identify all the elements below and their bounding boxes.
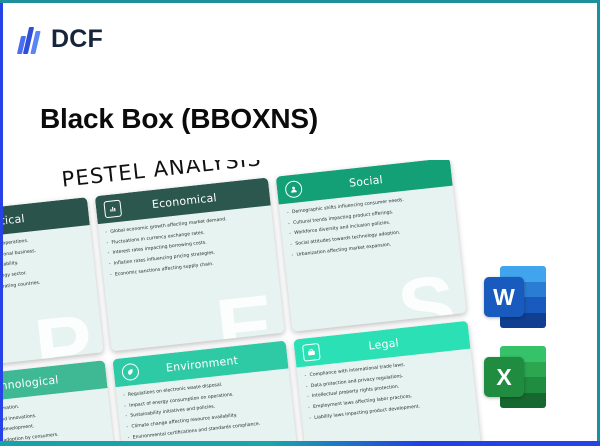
- briefcase-icon: [302, 342, 321, 361]
- bar-chart-icon: [103, 199, 122, 218]
- frame-border-bottom: [0, 441, 600, 446]
- list-item: Political relationships with operating c…: [0, 275, 89, 298]
- excel-letter: X: [484, 357, 524, 397]
- leaf-icon: [121, 362, 140, 381]
- page-title: Black Box (BBOXNS): [40, 103, 318, 135]
- pestel-card-environment[interactable]: Environment E Regulations on electronic …: [112, 341, 302, 446]
- page-header: DCF Black Box (BBOXNS): [0, 0, 600, 160]
- frame-border-left: [0, 0, 3, 446]
- frame-border-top: [0, 0, 600, 3]
- pestel-card-political[interactable]: Political P Government stability impacti…: [0, 197, 103, 371]
- card-body-technological: T Advances in AI and automation. Cyberse…: [0, 388, 121, 446]
- brand-logo[interactable]: DCF: [18, 24, 103, 54]
- user-person-icon: [285, 179, 304, 198]
- pestel-card-technological[interactable]: Technological T Advances in AI and autom…: [0, 360, 121, 446]
- pestel-grid: Political P Government stability impacti…: [0, 160, 484, 446]
- page-root: DCF Black Box (BBOXNS) PESTEL ANALYSIS P…: [0, 0, 600, 446]
- pestel-card-economical[interactable]: Economical E Global economic growth affe…: [94, 177, 284, 351]
- word-letter: W: [484, 277, 524, 317]
- pestel-card-social[interactable]: Social S Demographic shifts influencing …: [276, 160, 466, 332]
- microsoft-excel-icon[interactable]: X: [484, 346, 546, 408]
- pestel-board: PESTEL ANALYSIS Political P Government s…: [0, 160, 484, 446]
- dcf-bars-logo-icon: [18, 24, 44, 54]
- microsoft-word-icon[interactable]: W: [484, 266, 546, 328]
- card-body-political: P Government stability impacting operati…: [0, 225, 103, 371]
- card-body-social: S Demographic shifts influencing consume…: [279, 186, 466, 332]
- pestel-card-legal[interactable]: Legal L Compliance with international tr…: [294, 321, 484, 446]
- brand-name: DCF: [51, 25, 103, 54]
- card-body-economical: E Global economic growth affecting marke…: [97, 205, 284, 351]
